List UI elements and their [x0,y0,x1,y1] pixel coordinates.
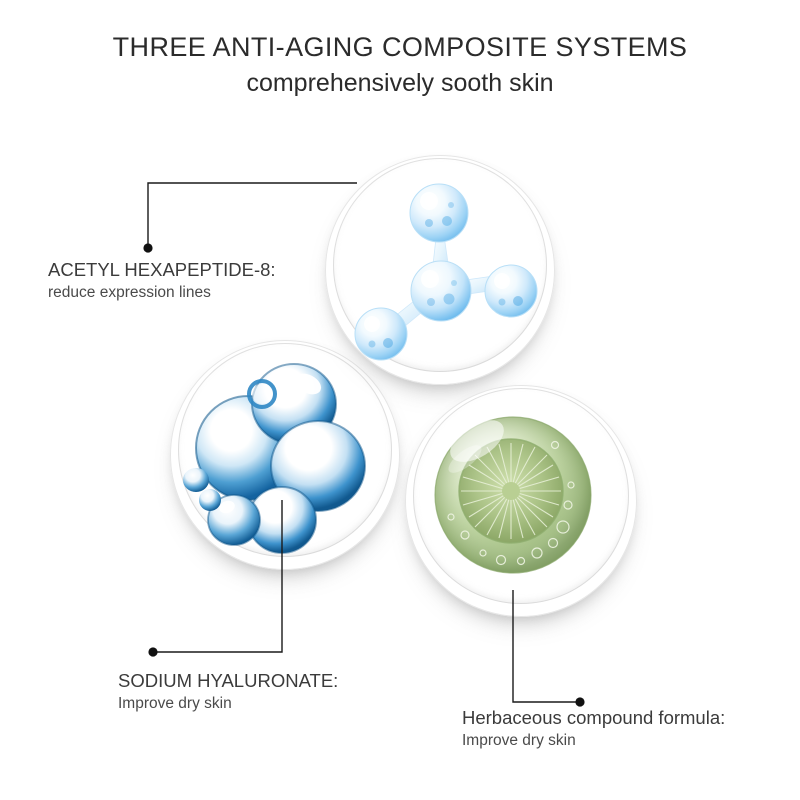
page-subtitle: comprehensively sooth skin [0,66,800,100]
leader-dot-acetyl [143,243,152,252]
ingredient-disc-herbaceous-formula[interactable] [405,385,637,617]
callout-herbaceous-compound-formula: Herbaceous compound formula: Improve dry… [462,706,725,752]
callout-title: SODIUM HYALURONATE: [118,669,338,693]
green-gel-sphere-icon [405,385,637,617]
leader-dot-sodium [148,647,157,656]
callout-title: Herbaceous compound formula: [462,706,725,730]
callout-title: ACETYL HEXAPEPTIDE-8: [48,258,276,282]
callout-description: Improve dry skin [118,693,338,715]
callout-description: reduce expression lines [48,282,276,304]
molecule-icon [325,155,555,385]
infographic-canvas: THREE ANTI-AGING COMPOSITE SYSTEMS compr… [0,0,800,800]
callout-acetyl-hexapeptide-8: ACETYL HEXAPEPTIDE-8: reduce expression … [48,258,276,304]
header-block: THREE ANTI-AGING COMPOSITE SYSTEMS compr… [0,30,800,100]
callout-description: Improve dry skin [462,730,725,752]
page-title: THREE ANTI-AGING COMPOSITE SYSTEMS [0,30,800,64]
callout-sodium-hyaluronate: SODIUM HYALURONATE: Improve dry skin [118,669,338,715]
ingredient-disc-acetyl-hexapeptide[interactable] [325,155,555,385]
